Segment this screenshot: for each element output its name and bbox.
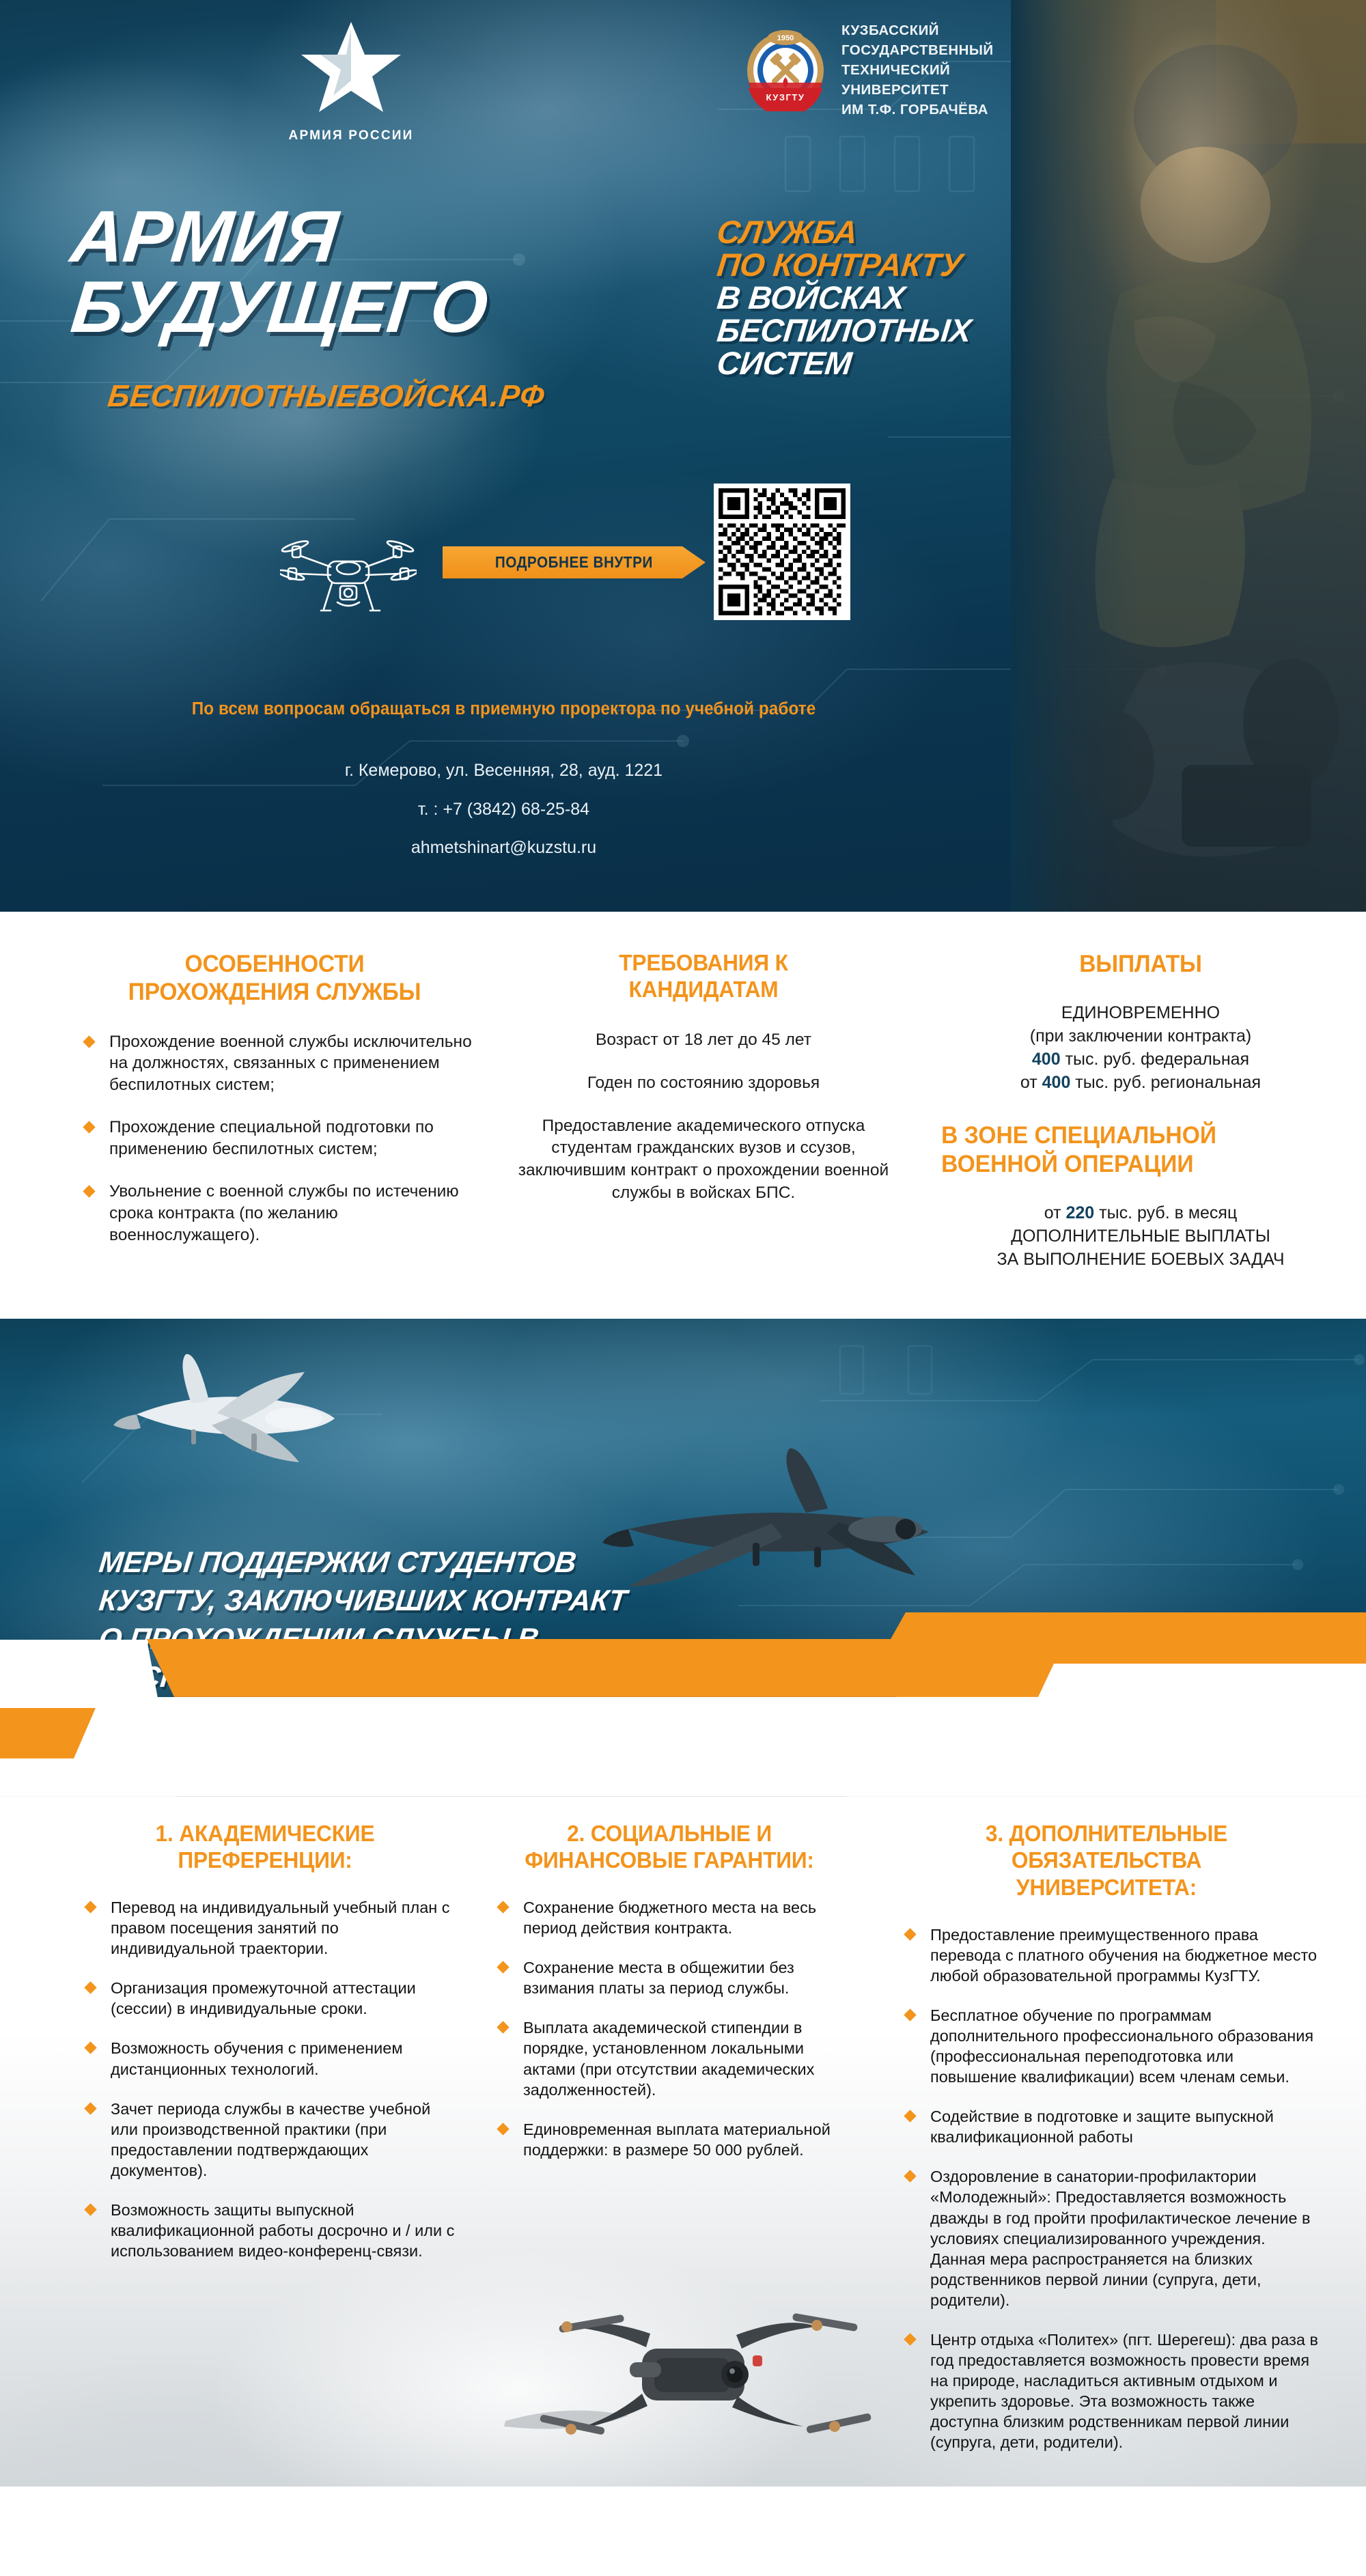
hero-title-line2: БУДУЩЕГО (68, 272, 704, 342)
info-heading-requirements: ТРЕБОВАНИЯ К КАНДИДАТАМ (517, 950, 889, 1003)
list-item: Увольнение с военной службы по истечению… (75, 1181, 474, 1246)
list-item: Организация промежуточной аттестации (се… (75, 1978, 455, 2019)
list-item: Содействие в подготовке и защите выпускн… (895, 2106, 1318, 2147)
payments-svo-block: от 220 тыс. руб. в месяц ДОПОЛНИТЕЛЬНЫЕ … (933, 1201, 1348, 1271)
payments-block: ЕДИНОВРЕМЕННО (при заключении контракта)… (933, 1001, 1348, 1094)
soldier-photo (1011, 0, 1366, 912)
army-russia-logo: АРМИЯ РОССИИ (283, 19, 419, 143)
benefits-column-academic: 1. АКАДЕМИЧЕСКИЕ ПРЕФЕРЕНЦИИ: Перевод на… (0, 1820, 471, 2280)
more-inside-button[interactable]: ПОДРОБНЕЕ ВНУТРИ (443, 546, 706, 578)
list-item: Возможность защиты выпускной квалификаци… (75, 2200, 455, 2261)
service-line-1: СЛУЖБА (715, 216, 1012, 249)
list-item: Предоставление преимущественного права п… (895, 1924, 1318, 1986)
support-title-line: МЕРЫ ПОДДЕРЖКИ СТУДЕНТОВ (97, 1544, 825, 1582)
service-line-3: В ВОЙСКАХ (715, 281, 1012, 314)
poster-root: АРМИЯ РОССИИ КУЗГТУ (0, 0, 1366, 2487)
university-name-line: КУЗБАССКИЙ (841, 20, 994, 40)
hero-title-line1: АРМИЯ (68, 201, 704, 272)
list-item: Единовременная выплата материальной подд… (488, 2119, 851, 2160)
payment-onetime-label: ЕДИНОВРЕМЕННО (933, 1001, 1348, 1024)
army-logo-label: АРМИЯ РОССИИ (283, 128, 419, 143)
list-item: Прохождение специальной подготовки по пр… (75, 1117, 474, 1160)
university-name-line: ТЕХНИЧЕСКИЙ (841, 60, 994, 80)
university-name-line: УНИВЕРСИТЕТ (841, 80, 994, 100)
quadcopter-drone-icon (280, 526, 417, 628)
service-line-5: СИСТЕМ (715, 347, 1012, 380)
benefits-section: 1. АКАДЕМИЧЕСКИЕ ПРЕФЕРЕНЦИИ: Перевод на… (0, 1797, 1366, 2487)
list-item: Выплата академической стипендии в порядк… (488, 2017, 851, 2099)
list-item: Бесплатное обучение по программам дополн… (895, 2005, 1318, 2087)
requirement-academic-leave: Предоставление академического отпуска ст… (510, 1115, 897, 1205)
benefits-heading-academic: 1. АКАДЕМИЧЕСКИЕ ПРЕФЕРЕНЦИИ: (83, 1820, 447, 1874)
contact-heading: По всем вопросам обращаться в приемную п… (25, 699, 982, 719)
requirement-age: Возраст от 18 лет до 45 лет (510, 1029, 897, 1052)
service-features-list: Прохождение военной службы исключительно… (75, 1031, 474, 1246)
list-item: Возможность обучения с применением диста… (75, 2038, 455, 2079)
list-item: Оздоровление в санатории-профилактории «… (895, 2166, 1318, 2310)
university-name-line: ГОСУДАРСТВЕННЫЙ (841, 40, 994, 60)
requirement-health: Годен по состоянию здоровья (510, 1072, 897, 1095)
support-banner: МЕРЫ ПОДДЕРЖКИ СТУДЕНТОВ КУЗГТУ, ЗАКЛЮЧИ… (0, 1319, 1366, 1797)
payment-extra-1: ДОПОЛНИТЕЛЬНЫЕ ВЫПЛАТЫ (933, 1224, 1348, 1248)
contact-details: г. Кемерово, ул. Весенняя, 28, ауд. 1221… (0, 751, 1007, 867)
emblem-year-label: 1950 (777, 34, 794, 42)
contact-email[interactable]: ahmetshinart@kuzstu.ru (0, 828, 1007, 867)
requirements-text: Возраст от 18 лет до 45 лет Годен по сос… (510, 1029, 897, 1205)
contact-address: г. Кемерово, ул. Весенняя, 28, ауд. 1221 (0, 751, 1007, 790)
info-column-payments: ВЫПЛАТЫ ЕДИНОВРЕМЕННО (при заключении ко… (915, 950, 1366, 1271)
hero-banner: АРМИЯ РОССИИ КУЗГТУ (0, 0, 1366, 912)
list-item: Прохождение военной службы исключительно… (75, 1031, 474, 1097)
white-band-bottom (0, 1697, 1366, 1797)
list-item: Перевод на индивидуальный учебный план с… (75, 1897, 455, 1959)
academic-benefits-list: Перевод на индивидуальный учебный план с… (75, 1897, 455, 2261)
university-obligations-list: Предоставление преимущественного права п… (895, 1924, 1318, 2453)
info-column-service-features: ОСОБЕННОСТИ ПРОХОЖДЕНИЯ СЛУЖБЫ Прохожден… (0, 950, 492, 1266)
benefits-heading-university: 3. ДОПОЛНИТЕЛЬНЫЕ ОБЯЗАТЕЛЬСТВА УНИВЕРСИ… (903, 1820, 1309, 1901)
more-inside-label: ПОДРОБНЕЕ ВНУТРИ (495, 553, 653, 572)
info-section: ОСОБЕННОСТИ ПРОХОЖДЕНИЯ СЛУЖБЫ Прохожден… (0, 912, 1366, 1319)
support-title-line: КУЗГТУ, ЗАКЛЮЧИВШИХ КОНТРАКТ (97, 1582, 825, 1621)
social-benefits-list: Сохранение бюджетного места на весь пери… (488, 1897, 851, 2160)
list-item: Зачет периода службы в качестве учебной … (75, 2099, 455, 2181)
qr-code-icon (719, 488, 846, 615)
info-column-requirements: ТРЕБОВАНИЯ К КАНДИДАТАМ Возраст от 18 ле… (492, 950, 915, 1205)
university-branding: КУЗГТУ 1950 КУЗБАССКИЙ ГОСУДАРСТВЕННЫЙ Т… (744, 20, 994, 120)
fixed-wing-uav-icon (89, 1332, 376, 1489)
contact-phone[interactable]: т. : +7 (3842) 68-25-84 (0, 790, 1007, 829)
payment-extra-2: ЗА ВЫПОЛНЕНИЕ БОЕВЫХ ЗАДАЧ (933, 1248, 1348, 1271)
info-heading-payments: ВЫПЛАТЫ (941, 950, 1340, 978)
folding-drone-photo-icon (437, 2260, 874, 2472)
website-url[interactable]: БЕСПИЛОТНЫЕВОЙСКА.РФ (106, 378, 546, 414)
payments-svo-heading: В ЗОНЕ СПЕЦИАЛЬНОЙ ВОЕННОЙ ОПЕРАЦИИ (941, 1121, 1340, 1178)
university-name-line: ИМ Т.Ф. ГОРБАЧЁВА (841, 100, 994, 120)
benefits-heading-social: 2. СОЦИАЛЬНЫЕ И ФИНАНСОВЫЕ ГАРАНТИИ: (495, 1820, 844, 1874)
benefits-column-social: 2. СОЦИАЛЬНЫЕ И ФИНАНСОВЫЕ ГАРАНТИИ: Сох… (471, 1820, 867, 2179)
qr-code[interactable] (714, 484, 850, 620)
benefits-column-university: 3. ДОПОЛНИТЕЛЬНЫЕ ОБЯЗАТЕЛЬСТВА УНИВЕРСИ… (867, 1820, 1346, 2472)
list-item: Сохранение бюджетного места на весь пери… (488, 1897, 851, 1938)
info-heading-service-features: ОСОБЕННОСТИ ПРОХОЖДЕНИЯ СЛУЖБЫ (83, 950, 466, 1007)
hero-title: АРМИЯ БУДУЩЕГО (72, 201, 700, 341)
service-line-4: БЕСПИЛОТНЫХ (715, 314, 1012, 347)
payment-onetime-note: (при заключении контракта) (933, 1024, 1348, 1048)
university-name: КУЗБАССКИЙ ГОСУДАРСТВЕННЫЙ ТЕХНИЧЕСКИЙ У… (841, 20, 994, 120)
service-headline: СЛУЖБА ПО КОНТРАКТУ В ВОЙСКАХ БЕСПИЛОТНЫ… (717, 216, 1011, 380)
payment-monthly: от 220 тыс. руб. в месяц (933, 1201, 1348, 1224)
service-line-2: ПО КОНТРАКТУ (715, 249, 1012, 281)
payment-regional: от 400 тыс. руб. региональная (933, 1071, 1348, 1094)
svg-text:КУЗГТУ: КУЗГТУ (766, 92, 805, 102)
army-star-icon (300, 19, 402, 123)
list-item: Сохранение места в общежитии без взимани… (488, 1957, 851, 1998)
payment-federal: 400 тыс. руб. федеральная (933, 1048, 1348, 1071)
kuzgtu-emblem-icon: КУЗГТУ 1950 (744, 29, 826, 111)
list-item: Центр отдыха «Политех» (пгт. Шерегеш): д… (895, 2329, 1318, 2452)
